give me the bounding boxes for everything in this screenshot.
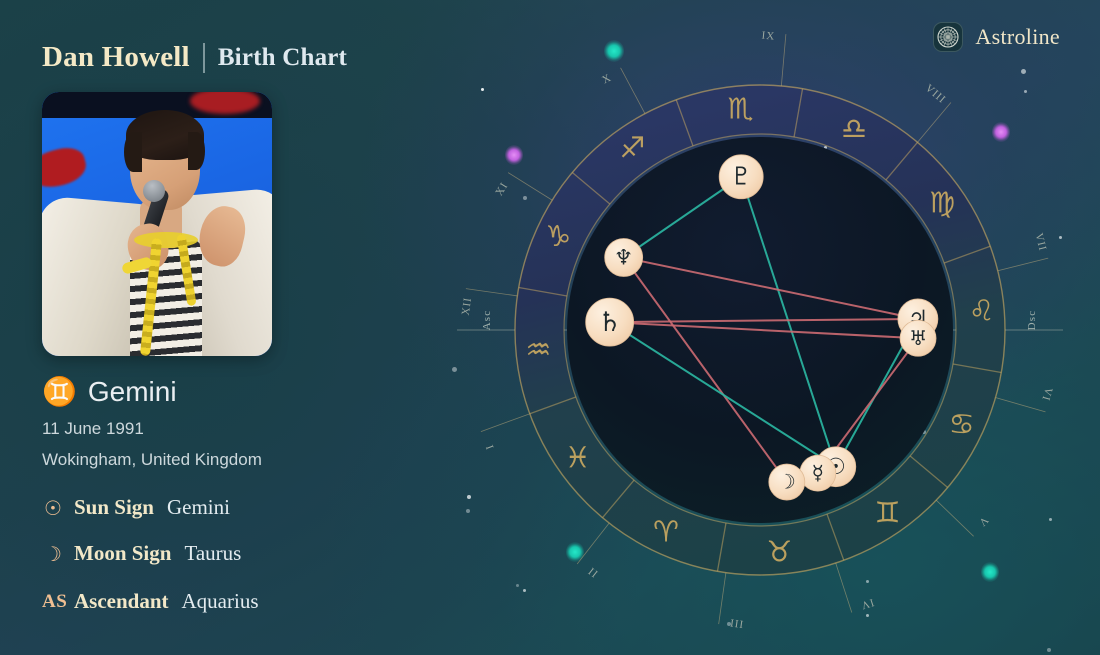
sign-glyph-aquarius: ♒ xyxy=(525,332,551,366)
attribute-value: Gemini xyxy=(167,495,230,520)
page-subtitle: Birth Chart xyxy=(218,44,347,72)
planet-glyph-mercury: ☿ xyxy=(812,461,824,485)
planet-glyph-pluto: ♇ xyxy=(730,162,752,191)
brand-logo[interactable]: Astroline xyxy=(933,22,1060,52)
gemini-glyph-icon: ♊ xyxy=(42,378,77,406)
house-numeral-ix: IX xyxy=(761,30,776,43)
house-numeral-xii: XII xyxy=(460,296,474,316)
sun-sign-name: Gemini xyxy=(88,376,177,408)
attribute-row-sun-sign: ☉ Sun Sign Gemini xyxy=(42,495,230,520)
portrait-photo xyxy=(42,92,272,356)
chart-svg: ♏♎♍♌♋♊♉♈♓♒♑♐ IIIIIIIVVVIVIIVIIIIXXXIXII … xyxy=(460,35,1070,625)
sign-glyph-cancer: ♋ xyxy=(949,407,975,441)
attribute-row-moon-sign: ☽ Moon Sign Taurus xyxy=(42,541,241,566)
sign-glyph-libra: ♎ xyxy=(841,111,867,145)
planet-marker-mercury[interactable]: ☿ xyxy=(800,455,836,491)
house-numeral-ii: II xyxy=(586,564,601,579)
house-numeral-xi: XI xyxy=(493,180,510,198)
planet-glyph-saturn: ♄ xyxy=(598,307,622,338)
house-numeral-vii: VII xyxy=(1033,232,1049,253)
house-numeral-x: X xyxy=(600,72,614,87)
astro-wheel-icon xyxy=(933,22,963,52)
planet-marker-saturn[interactable]: ♄ xyxy=(586,298,634,346)
house-numeral-v: V xyxy=(976,514,991,529)
house-numeral-i: I xyxy=(484,442,497,450)
house-numeral-vi: VI xyxy=(1039,386,1054,402)
sign-glyph-taurus: ♉ xyxy=(766,535,792,569)
attribute-value: Aquarius xyxy=(182,589,259,614)
house-numeral-iv: IV xyxy=(859,596,876,612)
page-title: Dan Howell Birth Chart xyxy=(42,41,347,74)
sign-glyph-virgo: ♍ xyxy=(929,185,955,219)
house-numeral-viii: VIII xyxy=(923,82,948,106)
sign-glyph-scorpio: ♏ xyxy=(728,91,754,125)
planet-glyph-moon: ☽ xyxy=(778,470,796,494)
sun-icon: ☉ xyxy=(42,498,64,518)
moon-icon: ☽ xyxy=(42,544,64,564)
birth-chart-wheel[interactable]: ♏♎♍♌♋♊♉♈♓♒♑♐ IIIIIIIVVVIVIIVIIIIXXXIXII … xyxy=(460,35,1070,625)
planet-glyph-uranus: ♅ xyxy=(909,326,927,350)
planet-marker-uranus[interactable]: ♅ xyxy=(900,320,936,356)
sign-glyph-gemini: ♊ xyxy=(875,495,901,529)
brand-name: Astroline xyxy=(975,24,1060,50)
house-numeral-iii: III xyxy=(728,616,744,630)
axis-label-asc: Asc xyxy=(481,310,493,331)
sign-glyph-leo: ♌ xyxy=(969,294,995,328)
attribute-label: Sun Sign xyxy=(74,495,154,520)
app-root: Astroline Dan Howell Birth Chart xyxy=(0,0,1100,655)
birth-date: 11 June 1991 xyxy=(42,419,144,439)
planet-marker-neptune[interactable]: ♆ xyxy=(605,239,643,277)
title-divider xyxy=(203,43,205,73)
planet-glyph-neptune: ♆ xyxy=(614,245,633,270)
attribute-label: Moon Sign xyxy=(74,541,171,566)
axis-label-dsc: Dsc xyxy=(1026,310,1038,331)
birth-place: Wokingham, United Kingdom xyxy=(42,450,262,470)
planet-marker-pluto[interactable]: ♇ xyxy=(719,155,763,199)
star-dot xyxy=(1047,648,1051,652)
person-name: Dan Howell xyxy=(42,41,190,74)
sign-glyph-aries: ♈ xyxy=(653,515,679,549)
profile-panel: Dan Howell Birth Chart xyxy=(0,0,440,655)
sign-glyph-pisces: ♓ xyxy=(565,441,591,475)
sign-glyph-capricorn: ♑ xyxy=(545,219,571,253)
sign-glyph-sagittarius: ♐ xyxy=(619,131,645,165)
attribute-row-ascendant: AS Ascendant Aquarius xyxy=(42,589,259,614)
sun-sign-headline: ♊ Gemini xyxy=(42,376,177,408)
attribute-value: Taurus xyxy=(184,541,241,566)
planet-marker-moon[interactable]: ☽ xyxy=(769,464,805,500)
ascendant-icon: AS xyxy=(42,592,64,611)
star-dot xyxy=(452,367,457,372)
attribute-label: Ascendant xyxy=(74,589,169,614)
